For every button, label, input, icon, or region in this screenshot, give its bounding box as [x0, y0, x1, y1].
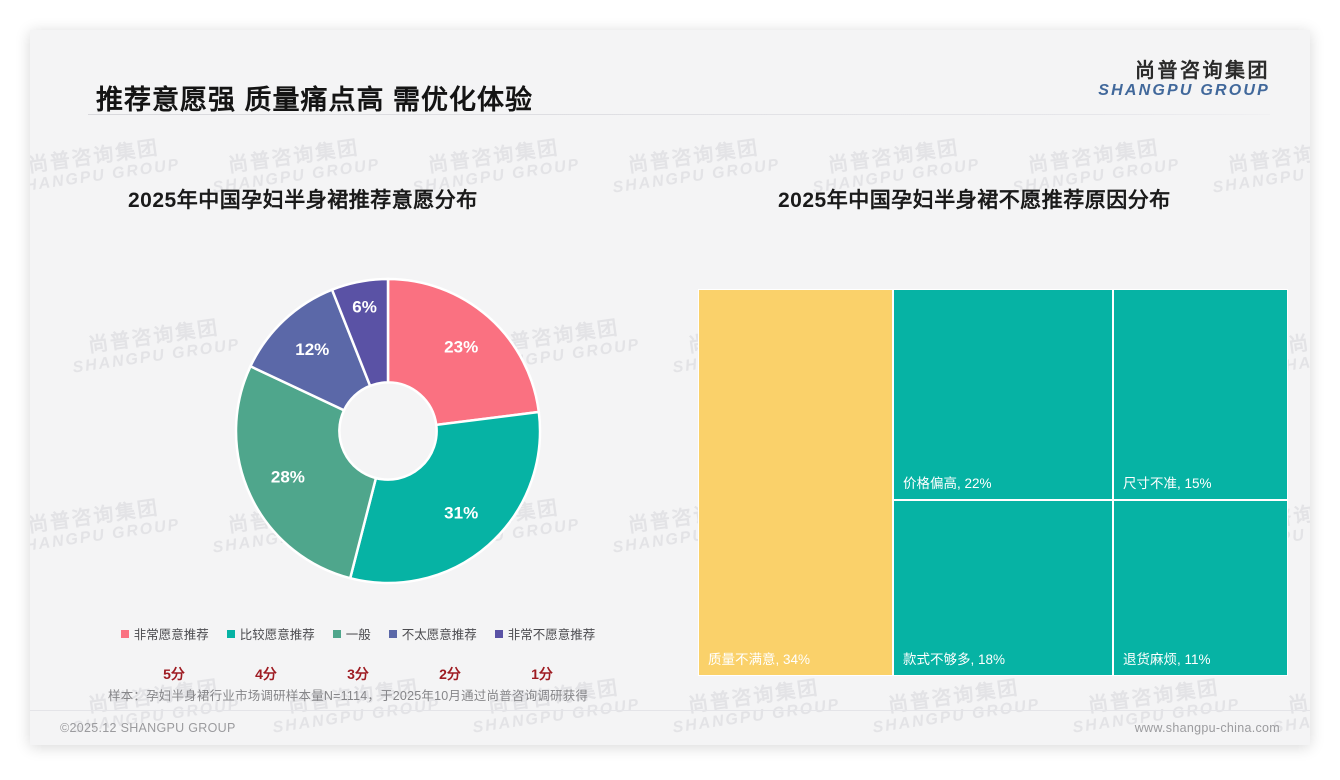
donut-svg: 23%31%28%12%6%: [198, 276, 578, 616]
slide-card: 尚普咨询集团SHANGPU GROUP尚普咨询集团SHANGPU GROUP尚普…: [30, 30, 1310, 745]
treemap-cell-label: 退货麻烦, 11%: [1123, 648, 1211, 668]
footer-website: www.shangpu-china.com: [1135, 721, 1280, 735]
donut-slice[interactable]: [236, 366, 376, 578]
treemap-cell-label: 质量不满意, 34%: [708, 648, 810, 668]
legend-swatch: [495, 630, 503, 638]
legend-swatch: [227, 630, 235, 638]
legend-item[interactable]: 一般: [333, 624, 371, 643]
donut-chart: 23%31%28%12%6%: [198, 276, 578, 616]
legend-label: 非常愿意推荐: [134, 624, 209, 643]
legend-swatch: [389, 630, 397, 638]
slide-footer: ©2025.12 SHANGPU GROUP www.shangpu-china…: [30, 711, 1310, 745]
brand-logo: 尚普咨询集团 SHANGPU GROUP: [1098, 60, 1270, 100]
legend-item[interactable]: 比较愿意推荐: [227, 624, 315, 643]
legend-swatch: [121, 630, 129, 638]
treemap-cell[interactable]: 退货麻烦, 11%: [1113, 500, 1288, 676]
score-label: 3分: [312, 664, 404, 684]
score-label: 2分: [404, 664, 496, 684]
donut-legend: 非常愿意推荐比较愿意推荐一般不太愿意推荐非常不愿意推荐: [58, 624, 658, 643]
donut-slice[interactable]: [350, 412, 540, 583]
donut-slice-label: 12%: [295, 340, 329, 359]
treemap-chart: 质量不满意, 34%价格偏高, 22%款式不够多, 18%尺寸不准, 15%退货…: [698, 289, 1288, 676]
legend-label: 不太愿意推荐: [402, 624, 477, 643]
donut-chart-panel: 2025年中国孕妇半身裙推荐意愿分布 23%31%28%12%6% 非常愿意推荐…: [30, 126, 670, 686]
treemap-cell[interactable]: 质量不满意, 34%: [698, 289, 893, 676]
left-chart-title: 2025年中国孕妇半身裙推荐意愿分布: [128, 184, 478, 214]
source-footnote: 样本：孕妇半身裙行业市场调研样本量N=1114，于2025年10月通过尚普咨询调…: [108, 685, 588, 704]
score-label: 1分: [496, 664, 588, 684]
treemap-cell-label: 价格偏高, 22%: [903, 472, 992, 492]
legend-item[interactable]: 非常不愿意推荐: [495, 624, 596, 643]
donut-slice-label: 31%: [444, 503, 478, 522]
header-divider: [88, 114, 1270, 115]
legend-label: 一般: [346, 624, 371, 643]
legend-label: 非常不愿意推荐: [508, 624, 596, 643]
donut-slice-label: 23%: [444, 337, 478, 356]
score-axis-row: 5分4分3分2分1分: [58, 664, 658, 684]
donut-slice-label: 28%: [271, 468, 305, 487]
treemap-chart-panel: 2025年中国孕妇半身裙不愿推荐原因分布 质量不满意, 34%价格偏高, 22%…: [670, 126, 1310, 686]
slide-header: 推荐意愿强 质量痛点高 需优化体验 尚普咨询集团 SHANGPU GROUP: [30, 30, 1310, 116]
treemap-cell-label: 尺寸不准, 15%: [1123, 472, 1212, 492]
legend-swatch: [333, 630, 341, 638]
footer-copyright: ©2025.12 SHANGPU GROUP: [60, 721, 236, 735]
brand-name-cn: 尚普咨询集团: [1098, 60, 1270, 82]
score-label: 4分: [220, 664, 312, 684]
legend-label: 比较愿意推荐: [240, 624, 315, 643]
donut-slice-label: 6%: [352, 298, 377, 317]
slide-page: 尚普咨询集团SHANGPU GROUP尚普咨询集团SHANGPU GROUP尚普…: [0, 0, 1340, 780]
treemap-cell-label: 款式不够多, 18%: [903, 648, 1005, 668]
treemap-cell[interactable]: 价格偏高, 22%: [893, 289, 1113, 500]
right-chart-title: 2025年中国孕妇半身裙不愿推荐原因分布: [778, 184, 1171, 214]
brand-name-en: SHANGPU GROUP: [1098, 82, 1270, 100]
page-title: 推荐意愿强 质量痛点高 需优化体验: [96, 78, 533, 117]
legend-item[interactable]: 不太愿意推荐: [389, 624, 477, 643]
legend-item[interactable]: 非常愿意推荐: [121, 624, 209, 643]
treemap-cell[interactable]: 款式不够多, 18%: [893, 500, 1113, 676]
treemap-cell[interactable]: 尺寸不准, 15%: [1113, 289, 1288, 500]
score-label: 5分: [128, 664, 220, 684]
